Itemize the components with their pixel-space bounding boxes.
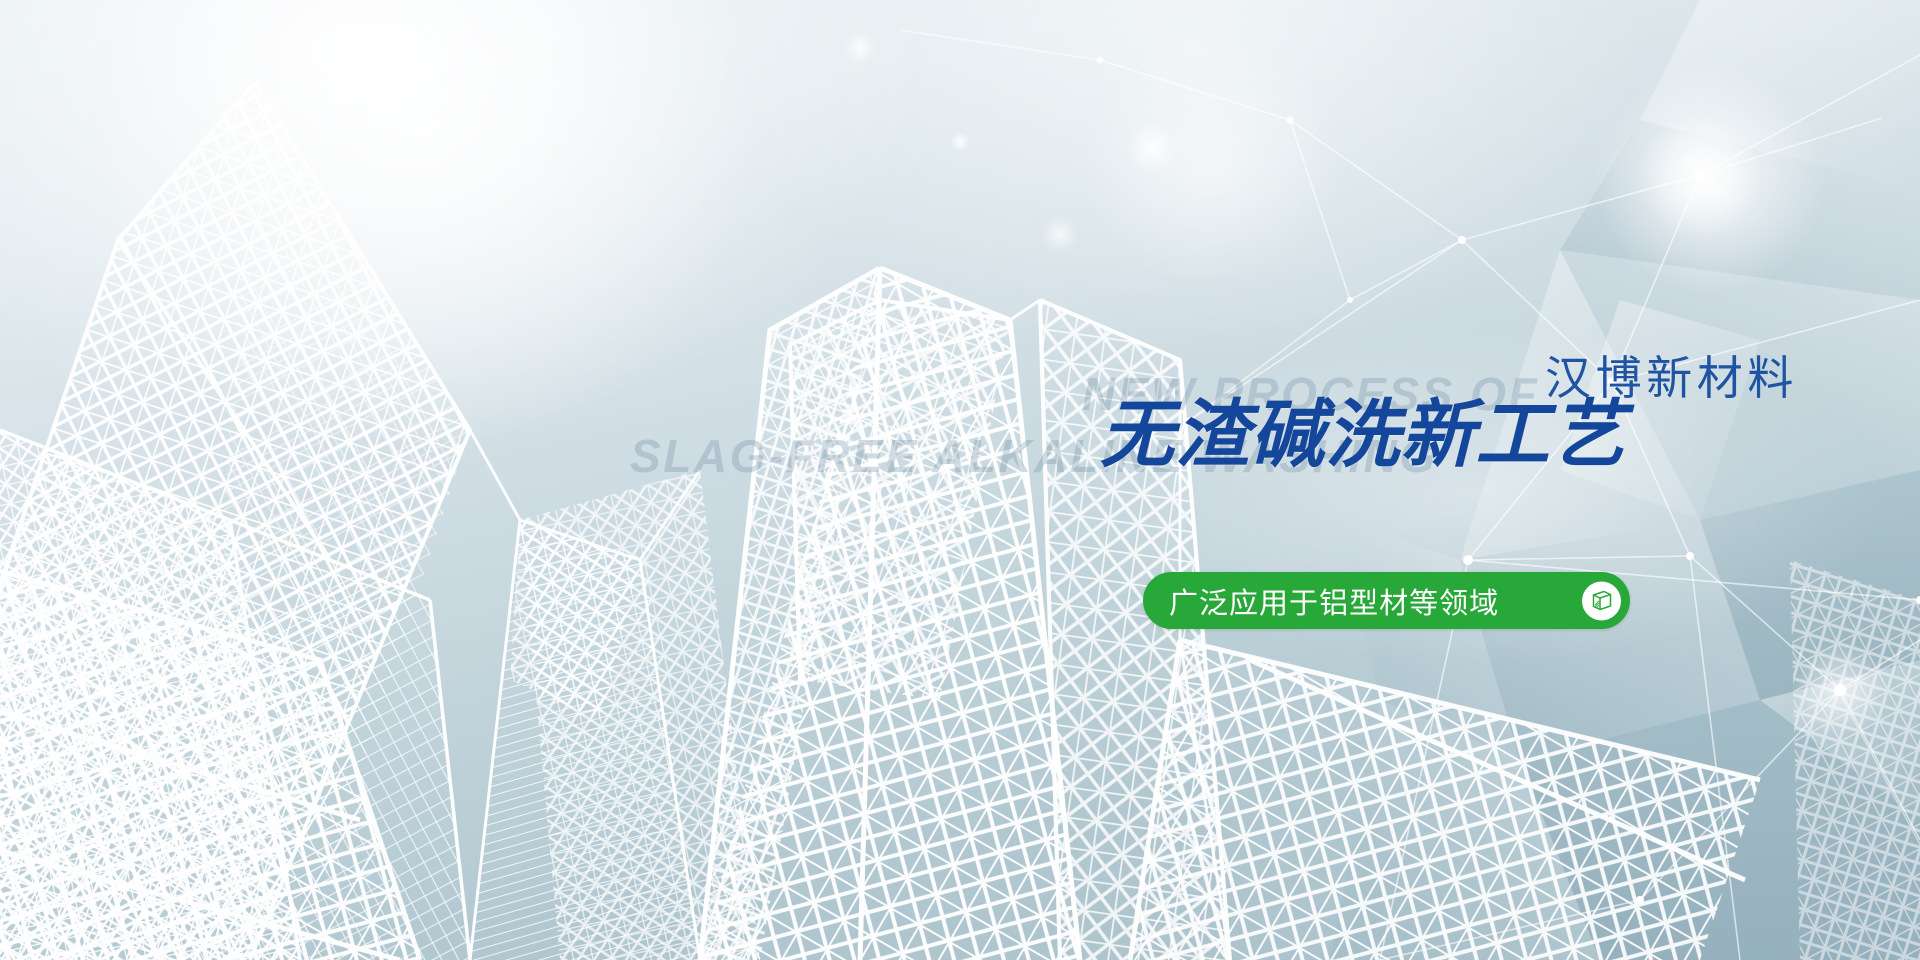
tower-right-slab bbox=[1130, 640, 1760, 960]
banner-copy-block: NEW PROCESS OF SLAG-FREE ALKALINE WASHIN… bbox=[1100, 376, 1800, 646]
cube-box-glyph bbox=[1589, 588, 1615, 614]
page-title: 无渣碱洗新工艺 bbox=[1100, 398, 1626, 472]
cube-box-icon bbox=[1582, 581, 1621, 620]
application-badge[interactable]: 广泛应用于铝型材等领域 bbox=[1143, 572, 1630, 629]
application-badge-label: 广泛应用于铝型材等领域 bbox=[1169, 580, 1499, 622]
promo-banner: NEW PROCESS OF SLAG-FREE ALKALINE WASHIN… bbox=[0, 0, 1920, 960]
tower-far-right bbox=[1790, 560, 1920, 960]
tower-mid-block bbox=[520, 470, 760, 960]
